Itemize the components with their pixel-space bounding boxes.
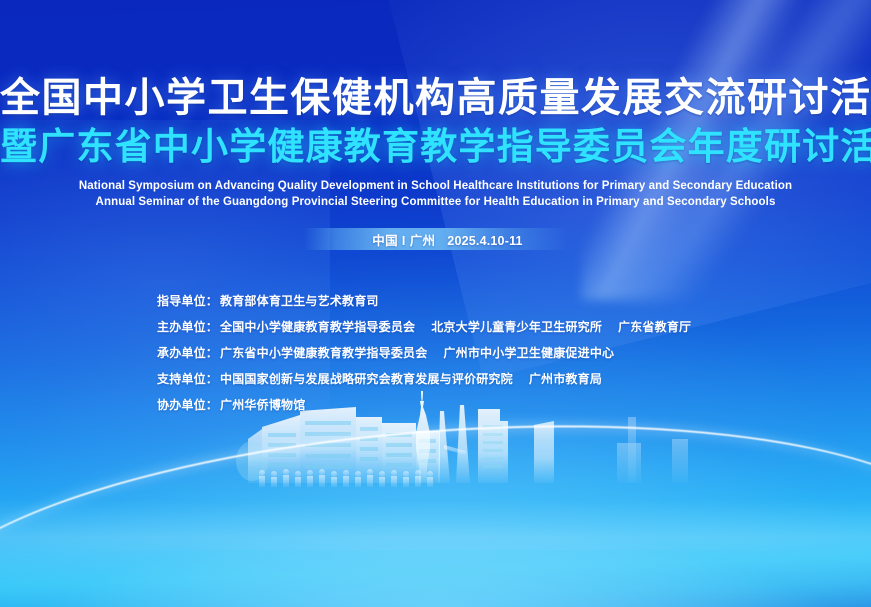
organizer-label: 指导单位： [157,294,218,308]
organizer-entry: 广州市教育局 [527,372,602,386]
badge-city: 广州 [410,234,436,248]
title-english-line-2: Annual Seminar of the Guangdong Provinci… [0,194,871,210]
organizer-entry: 全国中小学健康教育教学指导委员会 [218,320,415,334]
event-info-badge: 中国I广州2025.4.10-11 [304,228,568,250]
organizer-label: 承办单位： [157,346,218,360]
title-chinese-primary: 全国中小学卫生保健机构高质量发展交流研讨活动 [0,74,871,122]
organizer-list: 指导单位：教育部体育卫生与艺术教育司 主办单位：全国中小学健康教育教学指导委员会… [157,288,797,418]
organizer-row: 主办单位：全国中小学健康教育教学指导委员会北京大学儿童青少年卫生研究所广东省教育… [157,314,797,340]
poster-title-block: 全国中小学卫生保健机构高质量发展交流研讨活动 暨广东省中小学健康教育教学指导委员… [0,74,871,170]
event-info-text: 中国I广州2025.4.10-11 [372,230,522,249]
organizer-row: 指导单位：教育部体育卫生与艺术教育司 [157,288,797,314]
organizer-row: 协办单位：广州华侨博物馆 [157,392,797,418]
organizer-label: 协办单位： [157,398,218,412]
organizer-entry: 广州市中小学卫生健康促进中心 [441,346,614,360]
organizer-entry: 教育部体育卫生与艺术教育司 [218,294,379,308]
organizer-label: 支持单位： [157,372,218,386]
title-chinese-secondary: 暨广东省中小学健康教育教学指导委员会年度研讨活动 [0,124,871,170]
organizer-row: 承办单位：广东省中小学健康教育教学指导委员会广州市中小学卫生健康促进中心 [157,340,797,366]
organizer-row: 支持单位：中国国家创新与发展战略研究会教育发展与评价研究院广州市教育局 [157,366,797,392]
organizer-entry: 广东省中小学健康教育教学指导委员会 [218,346,427,360]
title-english-line-1: National Symposium on Advancing Quality … [0,178,871,194]
organizer-entry: 北京大学儿童青少年卫生研究所 [429,320,602,334]
organizer-entry: 中国国家创新与发展战略研究会教育发展与评价研究院 [218,372,513,386]
badge-date: 2025.4.10-11 [435,234,522,248]
poster-subtitle-english: National Symposium on Advancing Quality … [0,178,871,210]
organizer-entry: 广州华侨博物馆 [218,398,305,412]
event-info-badge-wrapper: 中国I广州2025.4.10-11 [0,228,871,250]
badge-country: 中国 [372,234,398,248]
organizer-label: 主办单位： [157,320,218,334]
organizer-entry: 广东省教育厅 [616,320,691,334]
badge-separator: I [398,234,410,248]
conference-poster: 全国中小学卫生保健机构高质量发展交流研讨活动 暨广东省中小学健康教育教学指导委员… [0,0,871,607]
